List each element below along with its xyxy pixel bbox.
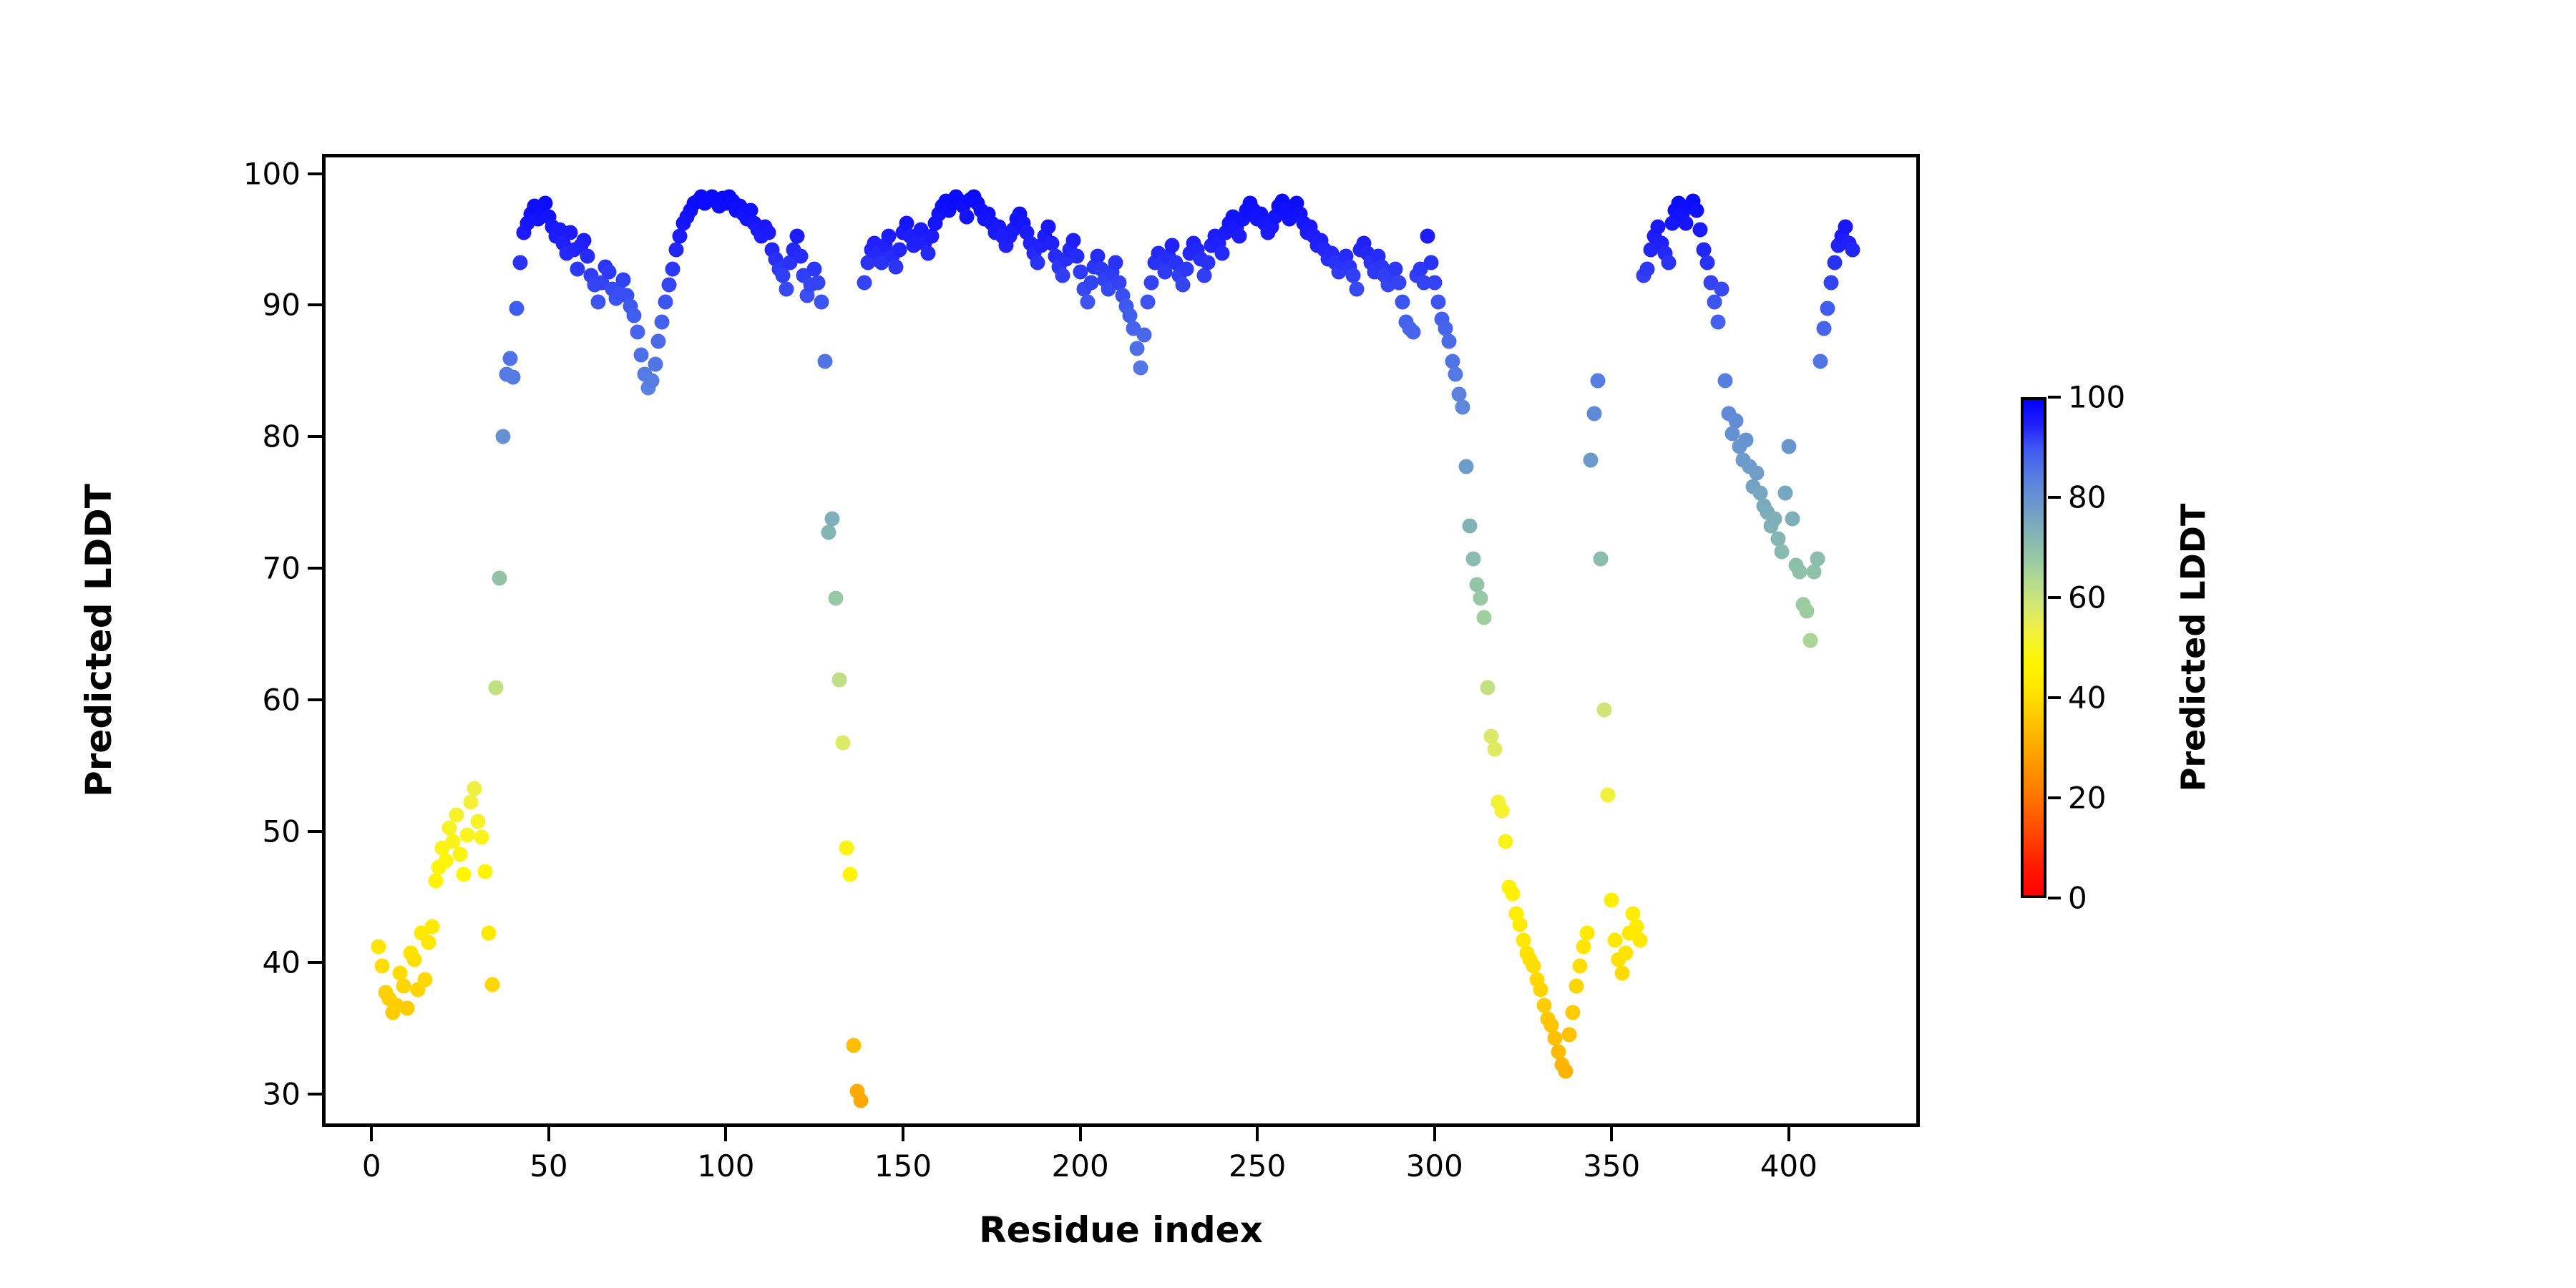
data-point [467, 781, 482, 796]
data-point [1785, 512, 1800, 527]
data-point [1568, 978, 1584, 993]
data-point [1767, 512, 1782, 527]
x-tick-label: 200 [1052, 1148, 1109, 1184]
data-point [1176, 278, 1191, 293]
y-tick-label: 80 [263, 419, 301, 454]
data-point [1679, 215, 1694, 230]
data-point [470, 814, 485, 829]
data-point [839, 840, 854, 855]
data-point [1739, 433, 1754, 448]
data-point [1533, 982, 1548, 997]
data-point [406, 952, 421, 967]
data-point [630, 325, 645, 340]
x-tick-label: 50 [530, 1148, 567, 1184]
data-point [477, 864, 492, 879]
data-point [495, 429, 510, 444]
data-point [509, 301, 525, 316]
data-point [1714, 281, 1729, 296]
data-point [626, 308, 641, 323]
data-point [1750, 466, 1765, 481]
colorbar-tick-mark [2048, 897, 2061, 899]
x-tick-mark [370, 1127, 373, 1141]
colorbar-tick-label: 40 [2068, 680, 2106, 716]
data-point [474, 830, 489, 845]
data-point [662, 278, 677, 293]
data-point [811, 275, 826, 290]
data-point [1494, 804, 1509, 819]
data-point [1179, 262, 1194, 277]
data-point [831, 672, 847, 687]
data-point [1136, 328, 1151, 343]
data-point [562, 225, 577, 240]
data-point [1604, 893, 1619, 908]
data-point [1810, 551, 1825, 566]
x-tick-label: 300 [1406, 1148, 1463, 1184]
data-point [1802, 633, 1818, 648]
data-point [1700, 255, 1715, 270]
data-point [1423, 255, 1438, 270]
data-point [1455, 400, 1470, 415]
data-point [814, 295, 829, 310]
data-point [481, 926, 496, 941]
data-point [960, 209, 975, 224]
x-tick-label: 0 [362, 1148, 381, 1184]
colorbar-tick-mark [2048, 596, 2061, 599]
data-point [825, 512, 840, 527]
data-point [1817, 321, 1832, 336]
y-tick-mark [308, 961, 322, 964]
data-point [1108, 255, 1123, 270]
data-point [1512, 917, 1527, 932]
colorbar-tick-mark [2048, 796, 2061, 799]
data-point [1200, 255, 1215, 270]
data-point [1463, 518, 1478, 533]
data-point [1707, 295, 1722, 310]
colorbar-tick-mark [2048, 496, 2061, 499]
data-point [1775, 545, 1790, 560]
x-axis-label: Residue index [322, 1209, 1920, 1251]
data-point [1505, 887, 1520, 902]
data-point [1466, 551, 1481, 566]
y-tick-label: 90 [263, 288, 301, 323]
data-point [1129, 341, 1144, 356]
y-tick-mark [308, 303, 322, 306]
data-point [457, 867, 472, 882]
data-point [1498, 834, 1513, 849]
data-point [1632, 932, 1647, 947]
data-point [1069, 248, 1084, 263]
data-point [673, 229, 688, 244]
data-point [396, 978, 411, 993]
data-point [1459, 459, 1474, 474]
data-point [853, 1093, 868, 1108]
x-tick-label: 250 [1229, 1148, 1286, 1184]
colorbar-tick-label: 20 [2068, 781, 2106, 816]
data-point [375, 959, 390, 974]
data-point [1828, 255, 1843, 270]
data-point [1133, 361, 1148, 376]
data-point [1689, 203, 1704, 218]
data-point [1430, 295, 1445, 310]
data-point [1594, 551, 1609, 566]
data-point [1473, 590, 1488, 605]
data-point [1590, 374, 1605, 389]
data-point [484, 977, 499, 992]
x-tick-label: 100 [697, 1148, 754, 1184]
data-point [506, 369, 521, 384]
data-point [821, 525, 836, 540]
data-point [1650, 220, 1665, 235]
data-point [1693, 223, 1708, 238]
data-point [658, 295, 673, 310]
data-point [1777, 485, 1792, 500]
x-tick-mark [724, 1127, 727, 1141]
data-point [633, 347, 648, 362]
data-point [1806, 564, 1821, 579]
data-point [655, 314, 670, 329]
data-point [1055, 268, 1070, 283]
data-point [1480, 680, 1496, 695]
data-point [424, 919, 439, 935]
data-point [1232, 229, 1247, 244]
data-point [1083, 275, 1098, 290]
data-point [460, 827, 475, 842]
colorbar-label: Predicted LDDT [2174, 504, 2212, 792]
data-point [399, 1001, 414, 1016]
data-point [502, 351, 517, 366]
data-point [1639, 262, 1654, 277]
colorbar-tick-label: 80 [2068, 480, 2106, 515]
y-tick-label: 70 [263, 550, 301, 585]
data-point [789, 229, 804, 244]
data-point [835, 735, 850, 750]
data-point [580, 248, 595, 263]
scatter-points-layer [326, 157, 1916, 1123]
data-point [1041, 220, 1056, 235]
data-point [1448, 367, 1463, 382]
data-point [1717, 374, 1732, 389]
data-point [1080, 295, 1095, 310]
y-tick-label: 100 [243, 156, 301, 191]
data-point [1781, 439, 1796, 454]
data-point [1392, 275, 1407, 290]
data-point [1615, 965, 1630, 980]
data-point [1477, 610, 1492, 625]
data-point [892, 242, 907, 257]
x-tick-label: 350 [1583, 1148, 1640, 1184]
data-point [1427, 275, 1442, 290]
data-point [1601, 788, 1616, 803]
data-point [1065, 233, 1080, 248]
data-point [1586, 406, 1601, 421]
x-tick-mark [1079, 1127, 1082, 1141]
data-point [1576, 939, 1591, 954]
data-point [1558, 1064, 1573, 1079]
y-tick-mark [308, 698, 322, 701]
data-point [651, 334, 666, 349]
data-point [421, 935, 436, 950]
data-point [1619, 945, 1634, 960]
data-point [1838, 220, 1853, 235]
data-point [1420, 229, 1435, 244]
data-point [439, 854, 454, 869]
x-tick-label: 150 [874, 1148, 932, 1184]
x-tick-label: 400 [1760, 1148, 1818, 1184]
y-tick-label: 60 [263, 682, 301, 717]
data-point [669, 242, 684, 257]
data-point [577, 233, 592, 248]
y-tick-mark [308, 1093, 322, 1096]
data-point [591, 295, 606, 310]
data-point [1349, 281, 1364, 296]
data-point [1661, 255, 1676, 270]
y-tick-mark [308, 567, 322, 570]
x-tick-mark [902, 1127, 904, 1141]
y-tick-mark [308, 172, 322, 175]
data-point [761, 225, 776, 240]
data-point [1487, 742, 1502, 757]
data-point [644, 374, 659, 389]
data-point [1395, 295, 1410, 310]
data-point [793, 248, 808, 263]
plot-area [322, 154, 1920, 1127]
data-point [492, 571, 507, 586]
data-point [602, 264, 617, 279]
data-point [1561, 1027, 1576, 1042]
data-point [779, 281, 794, 296]
data-point [1214, 246, 1229, 261]
colorbar-tick-mark [2048, 696, 2061, 699]
data-point [513, 255, 528, 270]
data-point [1597, 702, 1612, 717]
data-point [842, 867, 857, 882]
x-tick-mark [1610, 1127, 1613, 1141]
data-point [615, 272, 630, 287]
data-point [882, 229, 897, 244]
data-point [453, 847, 468, 862]
data-point [924, 229, 939, 244]
data-point [449, 807, 464, 822]
data-point [1824, 275, 1839, 290]
data-point [1792, 564, 1807, 579]
x-tick-mark [547, 1127, 550, 1141]
x-tick-mark [1256, 1127, 1259, 1141]
data-point [1406, 325, 1421, 340]
data-point [1710, 314, 1725, 329]
data-point [1820, 301, 1835, 316]
data-point [1143, 275, 1158, 290]
data-point [1608, 932, 1623, 947]
data-point [1728, 413, 1743, 428]
y-tick-label: 50 [263, 814, 301, 849]
data-point [1140, 295, 1155, 310]
data-point [428, 873, 443, 888]
data-point [818, 353, 833, 369]
y-tick-label: 40 [263, 945, 301, 980]
data-point [648, 356, 663, 371]
data-point [857, 275, 872, 290]
y-axis-label: Predicted LDDT [78, 484, 119, 797]
x-tick-mark [1787, 1127, 1790, 1141]
data-point [1845, 242, 1860, 257]
figure-canvas: 050100150200250300350400 Residue index 3… [0, 0, 2576, 1288]
colorbar-tick-label: 0 [2068, 881, 2087, 916]
data-point [1583, 452, 1598, 467]
x-tick-mark [1433, 1127, 1436, 1141]
colorbar-tick-label: 100 [2068, 380, 2125, 415]
y-tick-mark [308, 830, 322, 833]
data-point [846, 1038, 861, 1053]
y-tick-mark [308, 435, 322, 438]
data-point [1030, 255, 1045, 270]
colorbar-tick-mark [2048, 396, 2061, 399]
data-point [889, 259, 904, 274]
colorbar-gradient [2021, 397, 2046, 898]
data-point [665, 262, 680, 277]
data-point [417, 972, 432, 987]
data-point [1196, 268, 1211, 283]
data-point [464, 794, 479, 809]
colorbar-tick-label: 60 [2068, 580, 2106, 615]
y-tick-label: 30 [263, 1077, 301, 1112]
data-point [371, 939, 386, 954]
data-point [488, 680, 503, 695]
data-point [920, 246, 935, 261]
data-point [1441, 334, 1456, 349]
data-point [829, 590, 844, 605]
data-point [1572, 959, 1587, 974]
data-point [1565, 1005, 1580, 1020]
data-point [1579, 926, 1594, 941]
data-point [1799, 604, 1814, 619]
data-point [1813, 353, 1828, 369]
data-point [1165, 238, 1180, 253]
data-point [570, 262, 585, 277]
